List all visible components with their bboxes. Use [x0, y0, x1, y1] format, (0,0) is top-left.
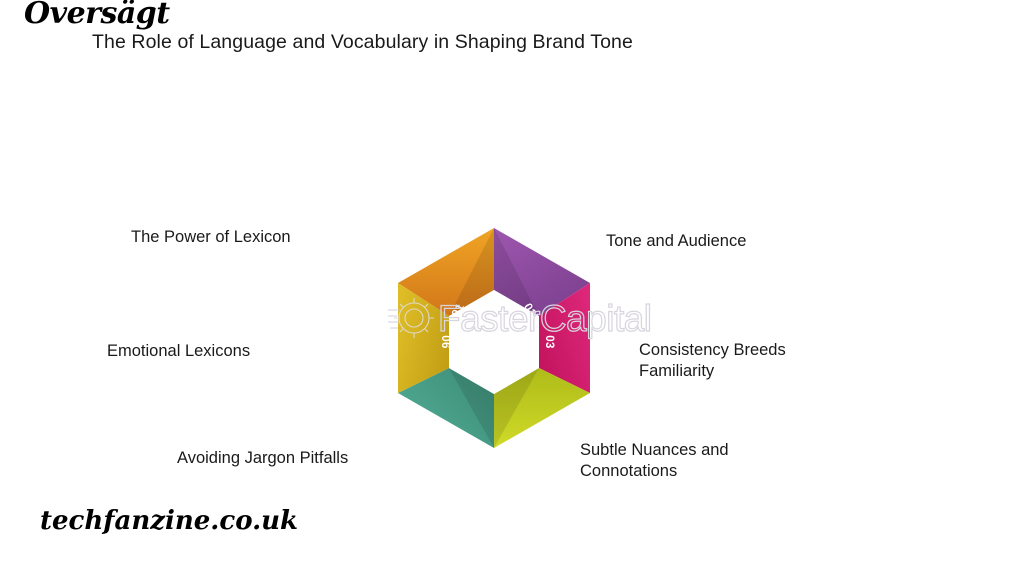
segment-05-label: Avoiding Jargon Pitfalls: [177, 448, 348, 469]
segment-03-label: Consistency Breeds Familiarity: [639, 340, 786, 382]
segment-01-label: The Power of Lexicon: [131, 227, 291, 248]
hexagon-infographic: 01 02 03 04 05 06 FasterCapital: [0, 0, 1024, 576]
segment-02-label: Tone and Audience: [606, 231, 746, 252]
site-footer: techfanzine.co.uk: [40, 506, 298, 536]
segment-06-number: 06: [439, 335, 451, 349]
segment-04-label: Subtle Nuances and Connotations: [580, 440, 729, 482]
hexagon-graphic: 01 02 03 04 05 06: [380, 220, 608, 480]
slide-canvas: Översägt The Role of Language and Vocabu…: [0, 0, 1024, 576]
segment-06-label: Emotional Lexicons: [107, 341, 250, 362]
segment-03-number: 03: [543, 335, 555, 349]
